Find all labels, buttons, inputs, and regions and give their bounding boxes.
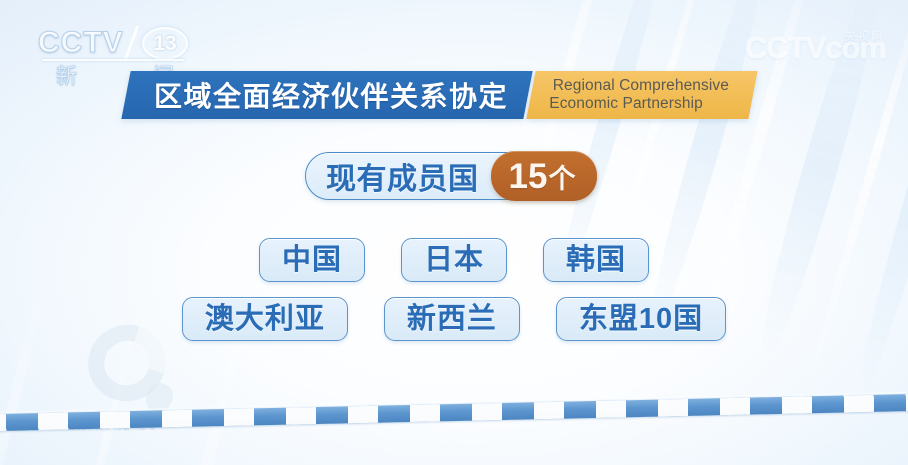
member-count-label: 现有成员国: [306, 154, 491, 198]
member-chip-china[interactable]: 中国: [259, 238, 365, 282]
title-banner-en-section: Regional Comprehensive Economic Partners…: [526, 71, 758, 119]
member-chip-label: 澳大利亚: [205, 305, 325, 334]
member-chip-label: 新西兰: [407, 305, 497, 334]
cctv-com-watermark-text: CCTV: [745, 30, 825, 65]
title-banner-cn-text: 区域全面经济伙伴关系协定: [154, 75, 508, 115]
title-banner-en-line2: Economic Partnership: [549, 95, 725, 113]
cctv-logo-slash: [124, 26, 139, 60]
channel-number-badge: 13: [142, 27, 188, 60]
member-count-unit: 个: [548, 164, 575, 194]
broadcast-graphic-screen: CCTV 13 新 闻 央视网 CCTVcom 区域全面经济伙伴关系协定 Reg…: [0, 0, 908, 465]
title-banner-en-line1: Regional Comprehensive: [553, 77, 729, 95]
member-chip-label: 东盟10国: [579, 305, 703, 334]
member-chip-row-1: 中国 日本 韩国: [0, 238, 908, 282]
member-chip-japan[interactable]: 日本: [401, 238, 507, 282]
background-light-streaks-bottom-left: [0, 259, 390, 465]
member-chip-asean-10[interactable]: 东盟10国: [556, 297, 726, 341]
member-chip-new-zealand[interactable]: 新西兰: [384, 297, 520, 341]
cctv-logo-rule: [42, 59, 184, 61]
cctv-com-watermark: 央视网 CCTVcom: [745, 30, 886, 66]
cctv-wordmark: CCTV: [38, 26, 124, 60]
member-chip-south-korea[interactable]: 韩国: [543, 238, 649, 282]
member-count-badge: 15个: [491, 151, 598, 200]
channel-name-cn-char1: 新: [56, 60, 77, 90]
cctv-com-watermark-suffix: com: [825, 30, 886, 65]
member-count-number: 15: [509, 157, 548, 196]
member-chip-label: 日本: [424, 246, 484, 275]
background-light-streaks: [441, 0, 908, 426]
member-chip-label: 中国: [282, 246, 342, 275]
title-banner-cn-section: 区域全面经济伙伴关系协定: [121, 71, 532, 119]
member-count-value: 15个: [509, 159, 576, 194]
cctv-com-watermark-cn: 央视网: [845, 28, 884, 44]
member-chip-row-2: 澳大利亚 新西兰 东盟10国: [0, 297, 908, 341]
title-banner: 区域全面经济伙伴关系协定 Regional Comprehensive Econ…: [126, 71, 753, 119]
member-chip-label: 韩国: [566, 246, 626, 275]
bottom-dashed-bar: [0, 394, 908, 432]
member-chip-australia[interactable]: 澳大利亚: [182, 297, 348, 341]
member-count-pill: 现有成员国 15个: [305, 152, 597, 200]
